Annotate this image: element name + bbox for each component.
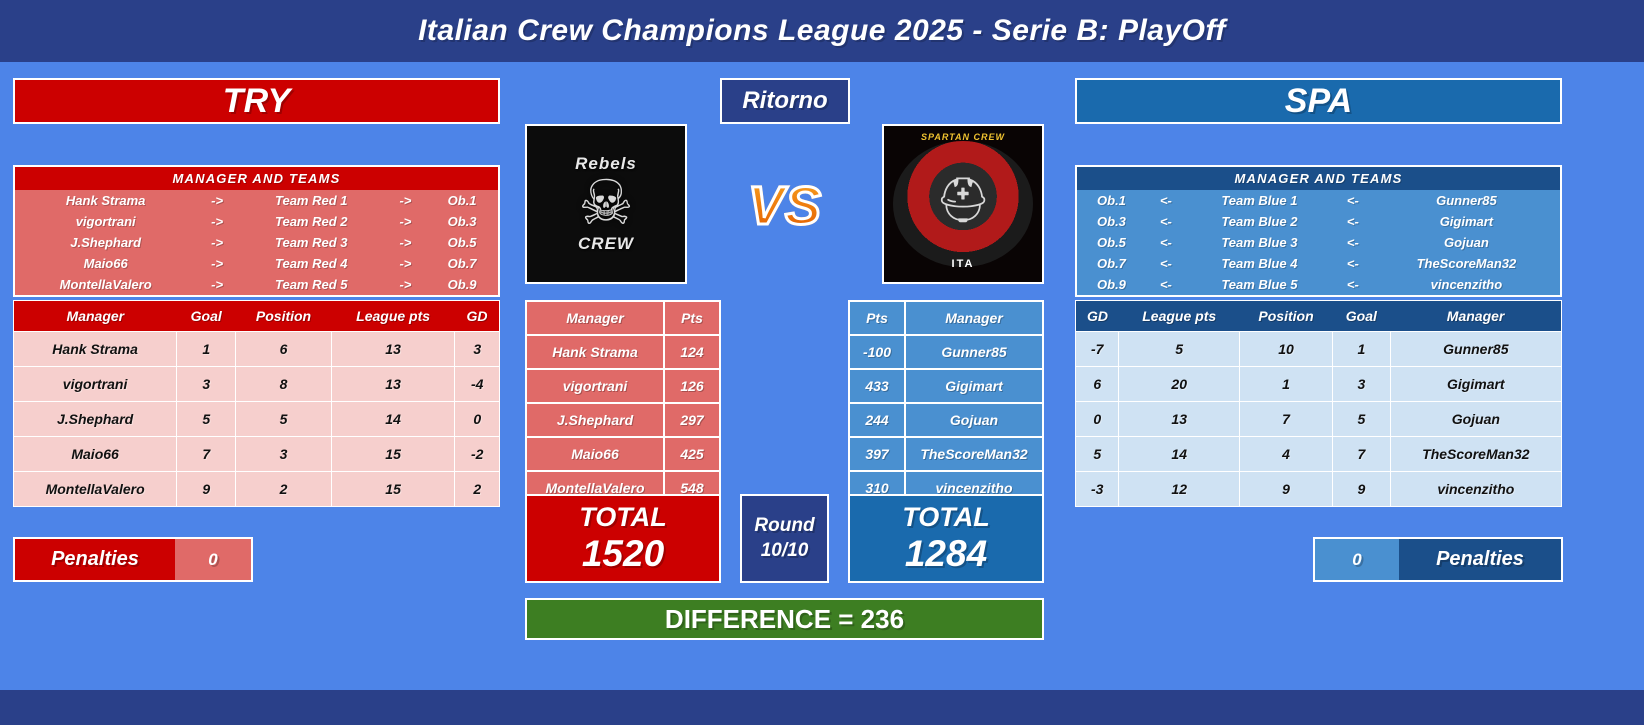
mt-left-team: Team Red 2 <box>238 211 385 232</box>
mt-right-slot: Ob.1 <box>1076 190 1146 211</box>
spartan-helmet-icon: ⛑ <box>935 179 991 223</box>
left-stats-position: 3 <box>236 437 331 472</box>
round-label: Round <box>754 514 814 539</box>
left-stats-gd: -4 <box>455 367 500 402</box>
table-row: Hank Strama->Team Red 1->Ob.1 <box>14 190 499 211</box>
left-stats-position: 2 <box>236 472 331 507</box>
spartan-crew-logo: ⛑ SPARTAN CREW ITA <box>882 124 1044 284</box>
table-row: MontellaValero92152 <box>14 472 500 507</box>
left-penalties-value: 0 <box>175 539 251 580</box>
mt-left-manager: MontellaValero <box>14 274 196 296</box>
mt-left-slot: Ob.7 <box>426 253 499 274</box>
mt-left-manager: J.Shephard <box>14 232 196 253</box>
table-row: 397TheScoreMan32 <box>849 437 1043 471</box>
right-total-label: TOTAL <box>902 502 990 533</box>
mt-right-manager: Gunner85 <box>1373 190 1561 211</box>
left-stats-col-header: GD <box>455 301 500 332</box>
right-points-pts: 397 <box>849 437 905 471</box>
table-row: Hank Strama124 <box>526 335 720 369</box>
mt-right-slot: Ob.5 <box>1076 232 1146 253</box>
table-row: vigortrani126 <box>526 369 720 403</box>
table-row: J.Shephard297 <box>526 403 720 437</box>
right-points-pts: 244 <box>849 403 905 437</box>
left-stats-table: ManagerGoalPositionLeague ptsGD Hank Str… <box>13 300 500 507</box>
right-points-pts: -100 <box>849 335 905 369</box>
right-stats-position: 10 <box>1239 332 1332 367</box>
spartan-logo-bottom-text: ITA <box>884 258 1042 270</box>
right-stats-gd: 5 <box>1076 437 1119 472</box>
right-stats-league_pts: 13 <box>1119 402 1240 437</box>
right-total-value: 1284 <box>905 533 987 576</box>
left-points-table: ManagerPts Hank Strama124vigortrani126J.… <box>525 300 721 506</box>
arrow-left-icon: <- <box>1146 253 1186 274</box>
scoreboard-page: Italian Crew Champions League 2025 - Ser… <box>0 0 1644 725</box>
mt-right-team: Team Blue 4 <box>1186 253 1333 274</box>
right-stats-manager: Gojuan <box>1390 402 1561 437</box>
table-row: -100Gunner85 <box>849 335 1043 369</box>
right-points-manager: TheScoreMan32 <box>905 437 1043 471</box>
left-stats-goal: 3 <box>177 367 236 402</box>
mt-left-team: Team Red 3 <box>238 232 385 253</box>
table-row: Ob.9<-Team Blue 5<-vincenzitho <box>1076 274 1561 296</box>
left-points-manager: vigortrani <box>526 369 664 403</box>
right-stats-goal: 7 <box>1333 437 1391 472</box>
mt-right-slot: Ob.7 <box>1076 253 1146 274</box>
right-stats-gd: 0 <box>1076 402 1119 437</box>
table-row: 01375Gojuan <box>1076 402 1562 437</box>
table-row: -75101Gunner85 <box>1076 332 1562 367</box>
spartan-logo-top-text: SPARTAN CREW <box>884 132 1042 142</box>
vs-label: VS <box>697 175 873 237</box>
arrow-right-icon: -> <box>385 274 427 296</box>
skull-icon: ☠ <box>578 173 634 235</box>
table-row: Ob.3<-Team Blue 2<-Gigimart <box>1076 211 1561 232</box>
left-points-pts: 126 <box>664 369 720 403</box>
right-points-pts: 433 <box>849 369 905 403</box>
right-stats-league_pts: 12 <box>1119 472 1240 507</box>
table-row: MontellaValero->Team Red 5->Ob.9 <box>14 274 499 296</box>
mt-left-manager: Maio66 <box>14 253 196 274</box>
left-points-manager: J.Shephard <box>526 403 664 437</box>
right-stats-gd: -7 <box>1076 332 1119 367</box>
left-total-box: TOTAL 1520 <box>525 494 721 583</box>
table-row: 62013Gigimart <box>1076 367 1562 402</box>
left-stats-manager: J.Shephard <box>14 402 177 437</box>
round-value: 10/10 <box>761 539 809 564</box>
left-points-manager: Hank Strama <box>526 335 664 369</box>
right-stats-manager: Gigimart <box>1390 367 1561 402</box>
left-points-pts: 124 <box>664 335 720 369</box>
left-total-label: TOTAL <box>579 502 667 533</box>
right-stats-position: 9 <box>1239 472 1332 507</box>
arrow-right-icon: -> <box>196 232 238 253</box>
table-row: J.Shephard->Team Red 3->Ob.5 <box>14 232 499 253</box>
leg-banner: Ritorno <box>720 78 850 124</box>
mt-left-team: Team Red 4 <box>238 253 385 274</box>
right-stats-position: 4 <box>1239 437 1332 472</box>
left-manager-teams-table: MANAGER AND TEAMS Hank Strama->Team Red … <box>13 165 500 297</box>
table-row: Ob.1<-Team Blue 1<-Gunner85 <box>1076 190 1561 211</box>
difference-banner: DIFFERENCE = 236 <box>525 598 1044 640</box>
left-stats-gd: 3 <box>455 332 500 367</box>
right-points-manager: Gojuan <box>905 403 1043 437</box>
mt-left-team: Team Red 5 <box>238 274 385 296</box>
left-stats-position: 5 <box>236 402 331 437</box>
left-points-col-header: Manager <box>526 301 664 335</box>
table-row: vigortrani3813-4 <box>14 367 500 402</box>
left-stats-position: 6 <box>236 332 331 367</box>
mt-right-slot: Ob.9 <box>1076 274 1146 296</box>
left-total-value: 1520 <box>582 533 664 576</box>
arrow-left-icon: <- <box>1333 190 1373 211</box>
arrow-right-icon: -> <box>196 253 238 274</box>
right-stats-manager: Gunner85 <box>1390 332 1561 367</box>
right-team-name: SPA <box>1285 82 1352 121</box>
right-stats-gd: -3 <box>1076 472 1119 507</box>
rebels-logo-line2: CREW <box>578 235 634 253</box>
right-stats-league_pts: 14 <box>1119 437 1240 472</box>
left-stats-goal: 1 <box>177 332 236 367</box>
right-stats-goal: 3 <box>1333 367 1391 402</box>
table-row: vigortrani->Team Red 2->Ob.3 <box>14 211 499 232</box>
right-stats-col-header: Manager <box>1390 301 1561 332</box>
mt-right-team: Team Blue 5 <box>1186 274 1333 296</box>
arrow-left-icon: <- <box>1333 232 1373 253</box>
table-row: Ob.7<-Team Blue 4<-TheScoreMan32 <box>1076 253 1561 274</box>
mt-left-manager: Hank Strama <box>14 190 196 211</box>
footer-band <box>0 690 1644 725</box>
mt-left-slot: Ob.9 <box>426 274 499 296</box>
right-stats-manager: TheScoreMan32 <box>1390 437 1561 472</box>
mt-right-team: Team Blue 3 <box>1186 232 1333 253</box>
right-stats-league_pts: 5 <box>1119 332 1240 367</box>
left-stats-col-header: League pts <box>331 301 455 332</box>
mt-right-manager: vincenzitho <box>1373 274 1561 296</box>
arrow-left-icon: <- <box>1333 211 1373 232</box>
table-row: Maio66->Team Red 4->Ob.7 <box>14 253 499 274</box>
table-row: Maio667315-2 <box>14 437 500 472</box>
right-stats-position: 1 <box>1239 367 1332 402</box>
right-team-banner: SPA <box>1075 78 1562 124</box>
right-stats-col-header: Goal <box>1333 301 1391 332</box>
mt-left-manager: vigortrani <box>14 211 196 232</box>
mt-left-slot: Ob.3 <box>426 211 499 232</box>
table-row: Maio66425 <box>526 437 720 471</box>
left-stats-league_pts: 13 <box>331 367 455 402</box>
arrow-right-icon: -> <box>196 211 238 232</box>
right-penalties-label: Penalties <box>1399 539 1561 580</box>
mt-right-team: Team Blue 2 <box>1186 211 1333 232</box>
left-points-col-header: Pts <box>664 301 720 335</box>
right-stats-gd: 6 <box>1076 367 1119 402</box>
rebels-crew-logo: Rebels ☠ CREW <box>525 124 687 284</box>
table-row: -31299vincenzitho <box>1076 472 1562 507</box>
left-stats-gd: 2 <box>455 472 500 507</box>
mt-right-team: Team Blue 1 <box>1186 190 1333 211</box>
right-stats-col-header: GD <box>1076 301 1119 332</box>
left-stats-col-header: Goal <box>177 301 236 332</box>
right-penalties-value: 0 <box>1315 539 1399 580</box>
arrow-left-icon: <- <box>1146 211 1186 232</box>
arrow-left-icon: <- <box>1146 232 1186 253</box>
right-stats-col-header: Position <box>1239 301 1332 332</box>
left-stats-col-header: Position <box>236 301 331 332</box>
spartan-ring: ⛑ <box>893 141 1033 267</box>
arrow-left-icon: <- <box>1146 190 1186 211</box>
mt-left-slot: Ob.1 <box>426 190 499 211</box>
left-stats-position: 8 <box>236 367 331 402</box>
left-stats-league_pts: 14 <box>331 402 455 437</box>
right-manager-teams-header: MANAGER AND TEAMS <box>1076 166 1561 190</box>
header-band: Italian Crew Champions League 2025 - Ser… <box>0 0 1644 62</box>
left-stats-league_pts: 15 <box>331 472 455 507</box>
mt-right-manager: TheScoreMan32 <box>1373 253 1561 274</box>
left-stats-manager: Hank Strama <box>14 332 177 367</box>
left-team-banner: TRY <box>13 78 500 124</box>
mt-right-slot: Ob.3 <box>1076 211 1146 232</box>
arrow-left-icon: <- <box>1333 253 1373 274</box>
left-stats-goal: 7 <box>177 437 236 472</box>
round-box: Round 10/10 <box>740 494 829 583</box>
right-points-manager: Gunner85 <box>905 335 1043 369</box>
left-points-pts: 297 <box>664 403 720 437</box>
left-points-pts: 425 <box>664 437 720 471</box>
left-stats-col-header: Manager <box>14 301 177 332</box>
table-row: J.Shephard55140 <box>14 402 500 437</box>
right-points-manager: Gigimart <box>905 369 1043 403</box>
right-points-col-header: Manager <box>905 301 1043 335</box>
right-stats-goal: 1 <box>1333 332 1391 367</box>
arrow-right-icon: -> <box>385 190 427 211</box>
left-stats-manager: Maio66 <box>14 437 177 472</box>
mt-right-manager: Gojuan <box>1373 232 1561 253</box>
arrow-right-icon: -> <box>385 211 427 232</box>
left-stats-league_pts: 13 <box>331 332 455 367</box>
table-row: Ob.5<-Team Blue 3<-Gojuan <box>1076 232 1561 253</box>
right-stats-table: GDLeague ptsPositionGoalManager -75101Gu… <box>1075 300 1562 507</box>
arrow-right-icon: -> <box>196 274 238 296</box>
table-row: 433Gigimart <box>849 369 1043 403</box>
left-penalties-box: Penalties 0 <box>13 537 253 582</box>
right-stats-col-header: League pts <box>1119 301 1240 332</box>
left-stats-league_pts: 15 <box>331 437 455 472</box>
arrow-left-icon: <- <box>1146 274 1186 296</box>
right-points-col-header: Pts <box>849 301 905 335</box>
table-row: 244Gojuan <box>849 403 1043 437</box>
mt-right-manager: Gigimart <box>1373 211 1561 232</box>
right-manager-teams-table: MANAGER AND TEAMS Ob.1<-Team Blue 1<-Gun… <box>1075 165 1562 297</box>
left-stats-manager: vigortrani <box>14 367 177 402</box>
left-stats-gd: 0 <box>455 402 500 437</box>
left-stats-gd: -2 <box>455 437 500 472</box>
left-team-name: TRY <box>223 82 290 121</box>
right-stats-position: 7 <box>1239 402 1332 437</box>
arrow-right-icon: -> <box>196 190 238 211</box>
page-title: Italian Crew Champions League 2025 - Ser… <box>418 14 1226 48</box>
left-manager-teams-header: MANAGER AND TEAMS <box>14 166 499 190</box>
left-points-manager: Maio66 <box>526 437 664 471</box>
arrow-right-icon: -> <box>385 253 427 274</box>
left-stats-goal: 9 <box>177 472 236 507</box>
left-penalties-label: Penalties <box>15 539 175 580</box>
right-stats-goal: 5 <box>1333 402 1391 437</box>
arrow-left-icon: <- <box>1333 274 1373 296</box>
table-row: Hank Strama16133 <box>14 332 500 367</box>
arrow-right-icon: -> <box>385 232 427 253</box>
mt-left-slot: Ob.5 <box>426 232 499 253</box>
right-stats-league_pts: 20 <box>1119 367 1240 402</box>
left-stats-goal: 5 <box>177 402 236 437</box>
right-points-table: PtsManager -100Gunner85433Gigimart244Goj… <box>848 300 1044 506</box>
right-stats-manager: vincenzitho <box>1390 472 1561 507</box>
right-total-box: TOTAL 1284 <box>848 494 1044 583</box>
table-row: 51447TheScoreMan32 <box>1076 437 1562 472</box>
left-stats-manager: MontellaValero <box>14 472 177 507</box>
right-stats-goal: 9 <box>1333 472 1391 507</box>
right-penalties-box: 0 Penalties <box>1313 537 1563 582</box>
mt-left-team: Team Red 1 <box>238 190 385 211</box>
leg-label: Ritorno <box>742 87 827 115</box>
